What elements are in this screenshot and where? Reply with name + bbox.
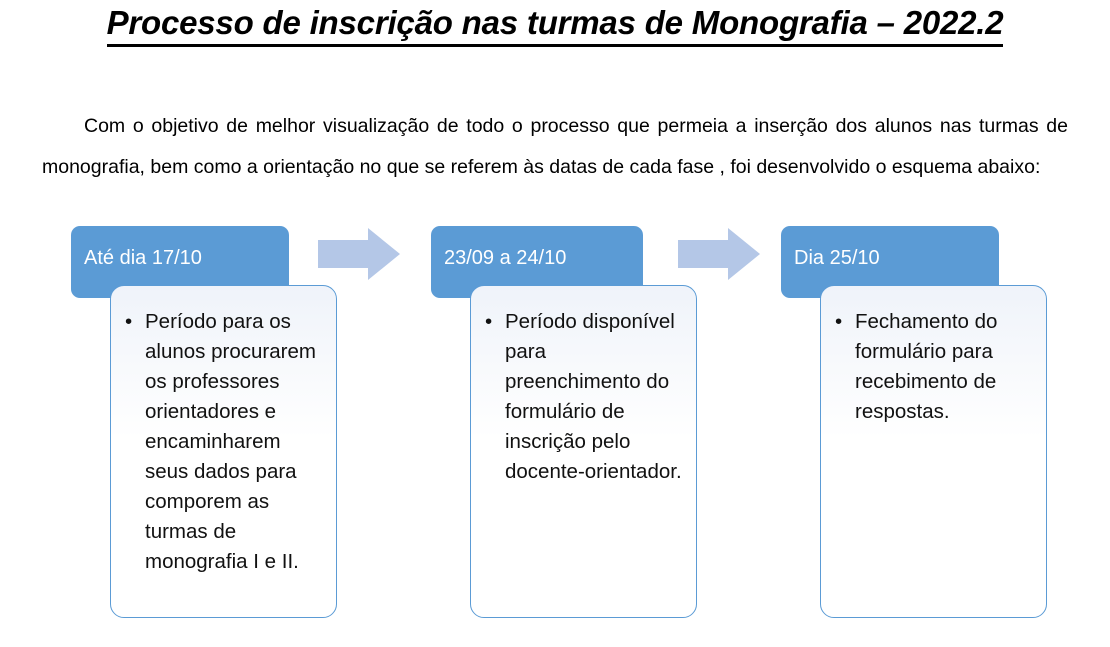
process-flow-diagram: Até dia 17/10 Período para os alunos pro… [0,0,1110,647]
list-item: Período disponível para preenchimento do… [483,307,684,487]
list-item: Fechamento do formulário para recebiment… [833,307,1034,427]
stage-2-bullet-list: Período disponível para preenchimento do… [483,307,684,487]
stage-1-header-label: Até dia 17/10 [84,247,202,269]
stage-2-body: Período disponível para preenchimento do… [470,285,697,618]
intro-paragraph: Com o objetivo de melhor visualização de… [42,106,1068,188]
right-arrow-icon [678,228,760,280]
stage-3-body: Fechamento do formulário para recebiment… [820,285,1047,618]
stage-2-header-label: 23/09 a 24/10 [444,247,566,269]
list-item: Período para os alunos procurarem os pro… [123,307,324,577]
stage-3-header-label: Dia 25/10 [794,247,880,269]
stage-3-bullet-list: Fechamento do formulário para recebiment… [833,307,1034,427]
page-title: Processo de inscrição nas turmas de Mono… [0,4,1110,42]
stage-1-bullet-list: Período para os alunos procurarem os pro… [123,307,324,577]
right-arrow-icon [318,228,400,280]
stage-1-body: Período para os alunos procurarem os pro… [110,285,337,618]
